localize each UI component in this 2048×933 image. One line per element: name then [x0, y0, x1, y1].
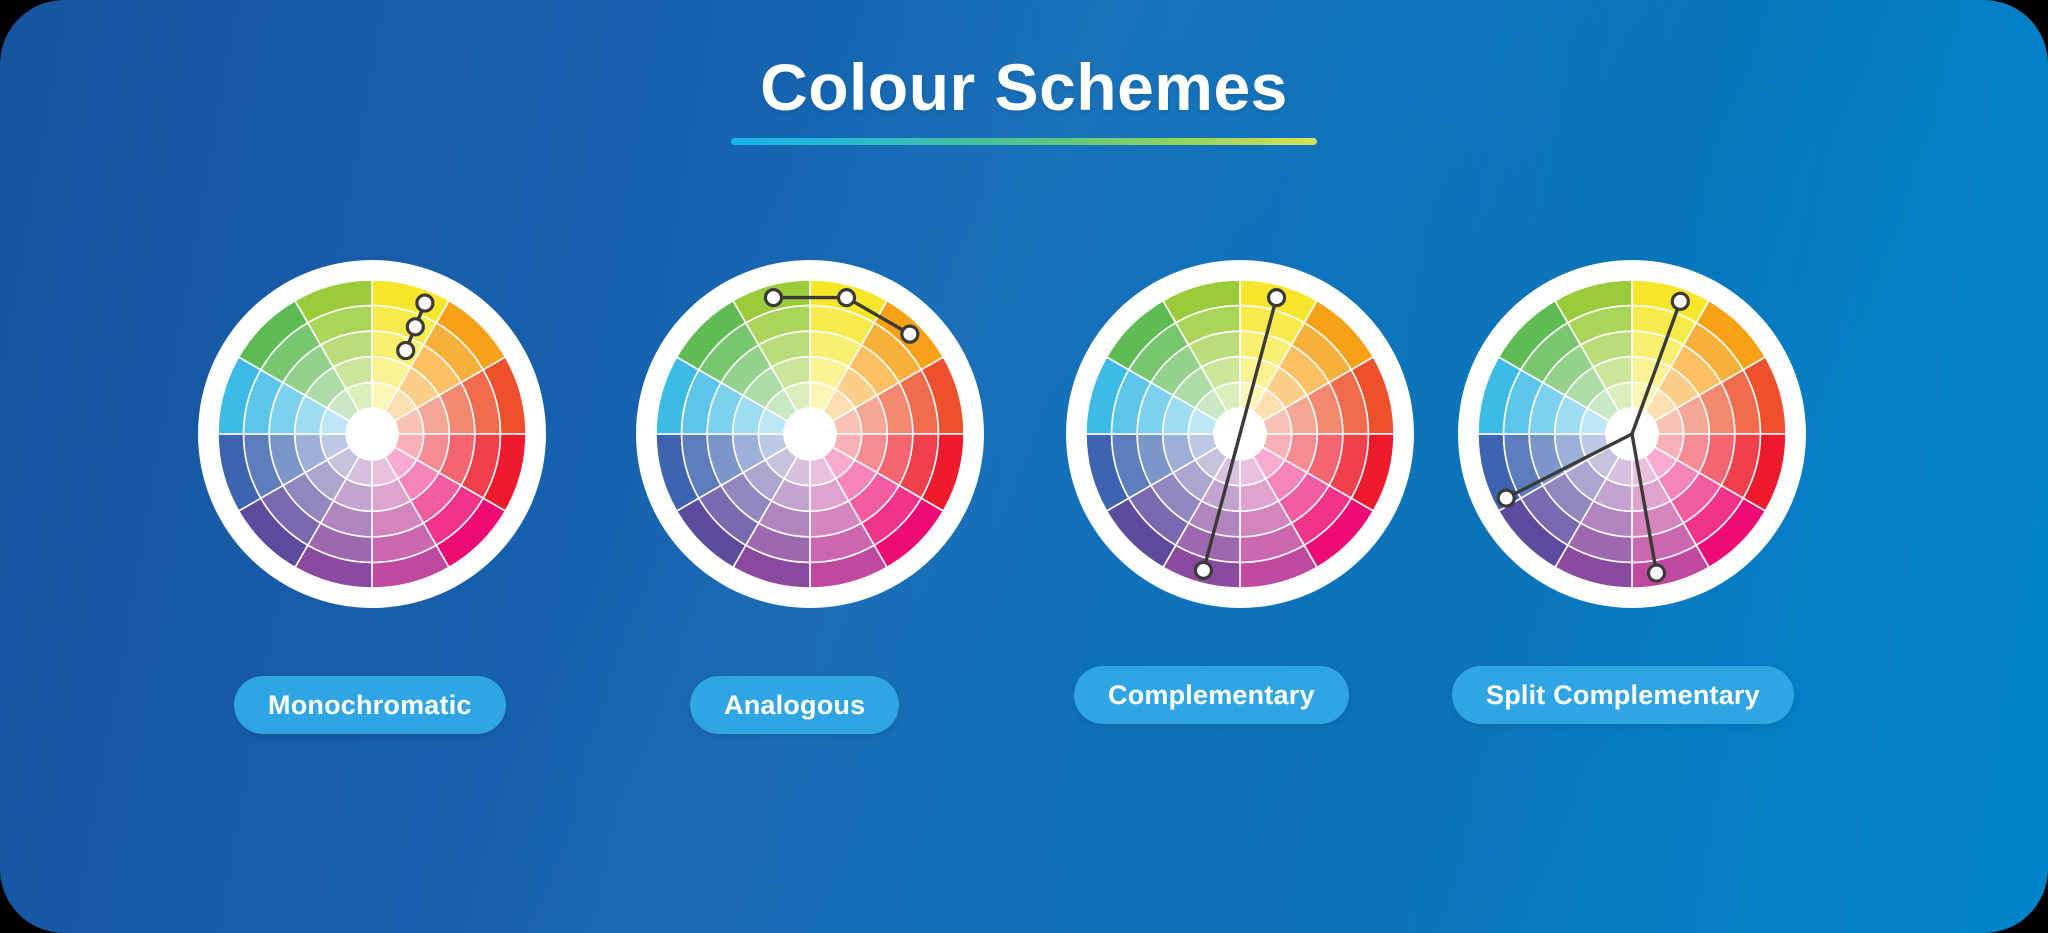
scheme-marker-1[interactable]: [765, 290, 781, 306]
scheme-marker-2[interactable]: [407, 319, 423, 335]
scheme-marker-3[interactable]: [398, 343, 414, 359]
scheme-marker-1[interactable]: [1672, 293, 1688, 309]
scheme-label-analogous[interactable]: Analogous: [690, 676, 899, 734]
scheme-marker-3[interactable]: [902, 326, 918, 342]
scheme-label-complementary[interactable]: Complementary: [1074, 666, 1349, 724]
scheme-marker-3[interactable]: [1649, 565, 1665, 581]
colour-wheel-graphic: [634, 258, 986, 610]
colour-wheels-row: [0, 248, 2048, 678]
scheme-marker-2[interactable]: [1498, 490, 1514, 506]
scheme-marker-2[interactable]: [839, 290, 855, 306]
colour-wheel-monochromatic[interactable]: [196, 258, 548, 610]
colour-wheel-graphic: [1064, 258, 1416, 610]
scheme-marker-2[interactable]: [1195, 562, 1211, 578]
colour-wheel-graphic: [1456, 258, 1808, 610]
colour-wheel-split-complementary[interactable]: [1456, 258, 1808, 610]
title-underline-accent: [731, 138, 1317, 145]
scheme-labels-row: Monochromatic Analogous Complementary Sp…: [0, 0, 2048, 120]
scheme-label-monochromatic[interactable]: Monochromatic: [234, 676, 506, 734]
colour-wheel-graphic: [196, 258, 548, 610]
colour-schemes-poster: Colour Schemes Monochromatic Analogous C…: [0, 0, 2048, 933]
colour-wheel-complementary[interactable]: [1064, 258, 1416, 610]
scheme-marker-1[interactable]: [417, 295, 433, 311]
colour-wheel-analogous[interactable]: [634, 258, 986, 610]
wheel-hub: [346, 408, 398, 460]
scheme-marker-1[interactable]: [1269, 290, 1285, 306]
scheme-label-split-complementary[interactable]: Split Complementary: [1452, 666, 1794, 724]
wheel-hub: [784, 408, 836, 460]
